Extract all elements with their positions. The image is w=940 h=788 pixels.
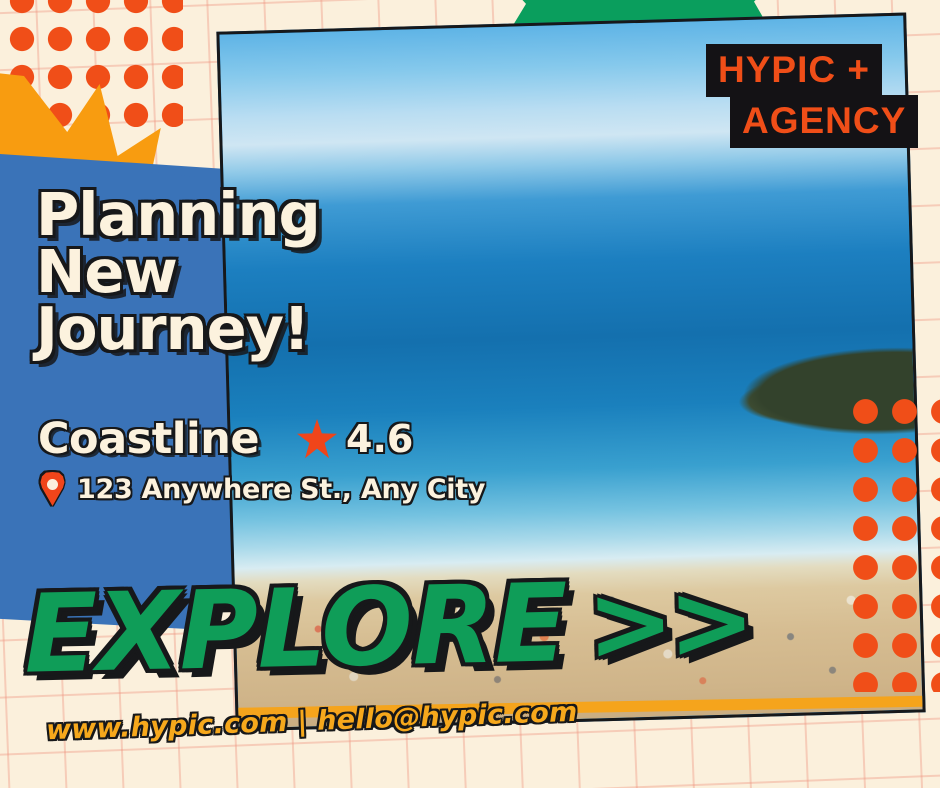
place-name: Coastline [38,414,259,464]
star-icon [297,419,337,459]
chevron-double-right-icon: >> [586,568,750,675]
rating-group: 4.6 [297,417,413,461]
explore-cta[interactable]: EXPLORE >> [23,566,750,689]
headline: Planning New Journey! [36,186,320,358]
headline-line-2: New [36,243,320,300]
badge-line-1: HYPIC + [706,44,882,97]
pin-hole [47,479,58,490]
rating-value: 4.6 [346,417,413,461]
location-pin-icon [40,472,65,506]
headline-line-3: Journey! [36,300,320,357]
agency-badge: HYPIC + AGENCY [706,44,938,148]
place-rating-row: Coastline 4.6 [38,414,413,464]
badge-line-2: AGENCY [730,95,918,148]
address-row: 123 Anywhere St., Any City [40,472,485,506]
explore-label: EXPLORE [23,570,568,689]
poster-canvas: HYPIC + AGENCY Planning New Journey! Coa… [0,0,940,788]
headline-line-1: Planning [36,186,320,243]
address-text: 123 Anywhere St., Any City [77,474,485,505]
